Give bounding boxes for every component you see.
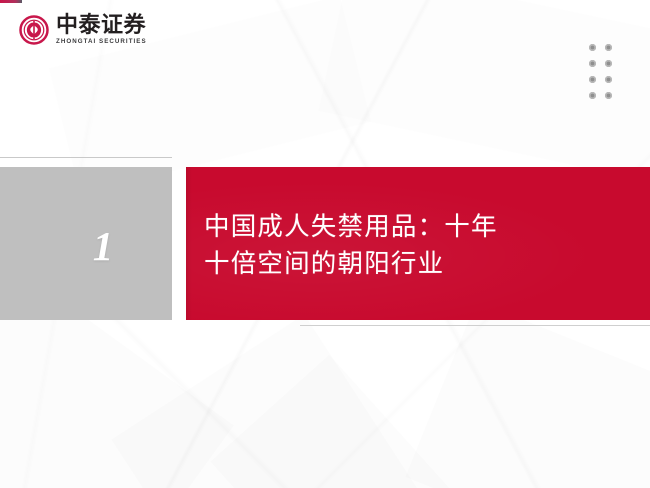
background-polygon [111, 314, 418, 488]
grid-dot [605, 92, 612, 99]
background-polygon [210, 355, 449, 488]
brand-name-cn: 中泰证券 [56, 14, 147, 36]
section-number: 1 [93, 226, 114, 267]
divider-line-top-left [0, 157, 172, 158]
grid-dot [605, 44, 612, 51]
grid-dot [605, 76, 612, 83]
top-left-accent-bar [0, 0, 22, 3]
grid-dot [589, 44, 596, 51]
decorative-dot-grid [589, 44, 612, 99]
grid-dot [589, 60, 596, 67]
grid-dot [589, 92, 596, 99]
zhongtai-circular-emblem-icon [19, 15, 49, 45]
section-title: 中国成人失禁用品：十年 十倍空间的朝阳行业 [186, 209, 498, 281]
brand-logo-text: 中泰证券 ZHONGTAI SECURITIES [56, 14, 147, 45]
background-polygon [405, 301, 650, 488]
brand-logo: 中泰证券 ZHONGTAI SECURITIES [19, 14, 147, 45]
grid-dot [589, 76, 596, 83]
presentation-slide: 中泰证券 ZHONGTAI SECURITIES 1 中国成人失禁用品：十年 十… [0, 0, 650, 488]
divider-line-bottom-right [300, 325, 650, 326]
section-number-block: 1 [0, 167, 172, 320]
brand-name-en: ZHONGTAI SECURITIES [56, 39, 147, 45]
grid-dot [605, 60, 612, 67]
section-title-banner: 中国成人失禁用品：十年 十倍空间的朝阳行业 [186, 167, 650, 320]
